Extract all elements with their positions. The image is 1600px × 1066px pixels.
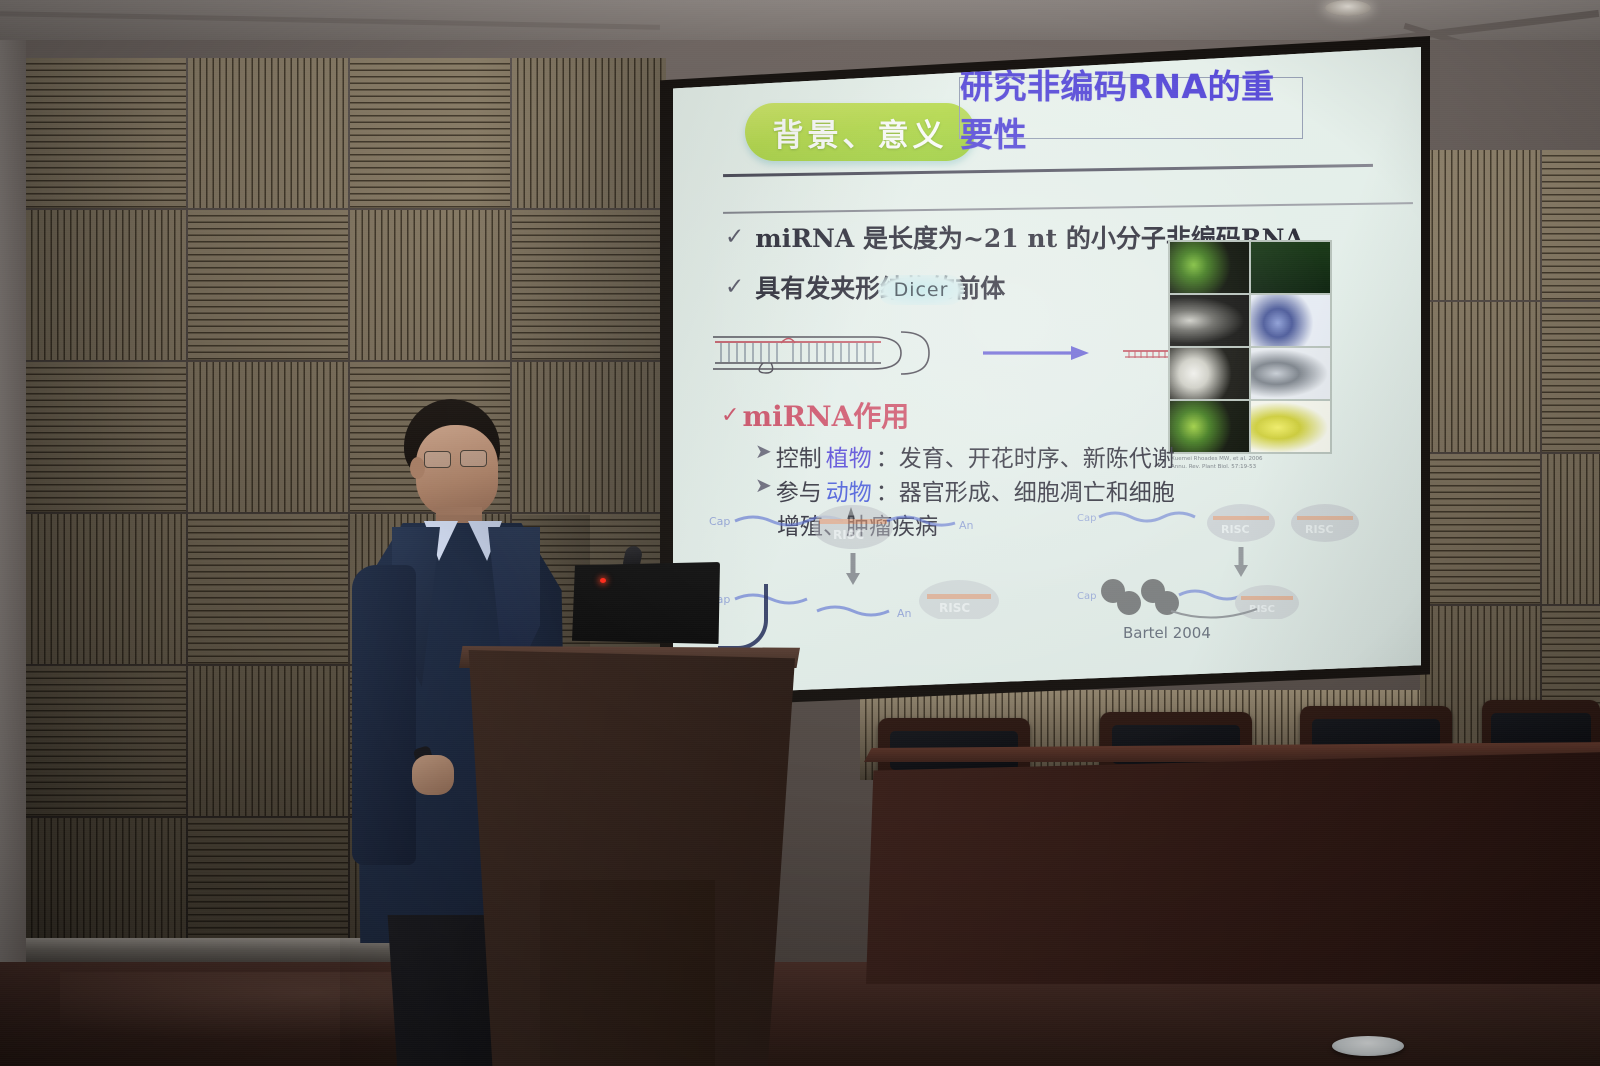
photo-cell-c [1170, 295, 1249, 346]
lecture-hall-photo: 背景、意义 研究非编码RNA的重要性 ✓ miRNA 是长度为~21 nt 的小… [0, 0, 1600, 1066]
svg-text:An: An [897, 607, 912, 619]
slide-section-pill: 背景、意义 [745, 103, 975, 161]
risc-pathway-diagram: Cap RISC An Cap An [701, 499, 1391, 619]
presenter-face [416, 425, 498, 517]
arrow-bullet-icon: ➤ [755, 439, 772, 464]
photo-citation-line-1: Xuemei Rhoades MW, et al. 2006 [1171, 455, 1321, 463]
dicer-label-text: Dicer [894, 279, 949, 301]
svg-text:RISC: RISC [1305, 523, 1334, 536]
slide-citation: Bartel 2004 [1123, 624, 1211, 642]
podium-column [540, 880, 715, 1066]
svg-text:Cap: Cap [1077, 591, 1096, 602]
slide-subitem-1-prefix: 控制 [776, 439, 822, 473]
ceiling-light-icon [1325, 0, 1371, 16]
photo-cell-f [1251, 348, 1330, 399]
svg-text:Cap: Cap [1077, 513, 1096, 524]
slide-section2-heading-text: miRNA作用 [742, 395, 909, 435]
slide-divider-bottom [723, 202, 1413, 214]
photo-cell-g [1170, 401, 1249, 452]
dicer-label-badge: Dicer [878, 275, 964, 305]
photo-cell-a [1170, 242, 1249, 293]
presenter-hand [412, 755, 454, 795]
slide-title-text: 研究非编码RNA的重要性 [960, 60, 1302, 156]
svg-text:RISC: RISC [833, 528, 864, 542]
svg-text:Cap: Cap [709, 515, 730, 528]
check-icon: ✓ [725, 275, 744, 298]
svg-text:An: An [959, 519, 974, 532]
slide-section2-heading: ✓ miRNA作用 [721, 395, 909, 435]
audience-desk [866, 752, 1600, 984]
check-icon: ✓ [721, 404, 739, 426]
saucer-cup [1332, 1036, 1404, 1056]
projection-screen[interactable]: 背景、意义 研究非编码RNA的重要性 ✓ miRNA 是长度为~21 nt 的小… [673, 47, 1421, 695]
plant-phenotype-photo-grid [1168, 240, 1332, 454]
svg-text:RISC: RISC [1221, 523, 1250, 536]
photo-citation-line-2: Annu. Rev. Plant Biol. 57:19-53 [1171, 463, 1321, 471]
slide-subitem-1-highlight: 植物 [826, 439, 872, 473]
photo-cell-d [1251, 295, 1330, 346]
laptop-power-led-icon [600, 578, 606, 583]
laptop[interactable] [572, 562, 720, 644]
glasses-icon [424, 451, 490, 468]
wall-left-column [0, 40, 26, 1000]
presenter-arm-left [352, 565, 416, 865]
photo-cell-b [1251, 242, 1330, 293]
photo-cell-h [1251, 401, 1330, 452]
slide-title-box: 研究非编码RNA的重要性 [959, 77, 1303, 139]
svg-text:RISC: RISC [939, 601, 970, 615]
slide-subitem-1-rest: ：发育、开花时序、新陈代谢 [876, 439, 1175, 473]
presenter-ear [410, 457, 425, 479]
presentation-slide: 背景、意义 研究非编码RNA的重要性 ✓ miRNA 是长度为~21 nt 的小… [673, 47, 1421, 695]
photo-cell-e [1170, 348, 1249, 399]
slide-section-label: 背景、意义 [773, 110, 948, 155]
arrow-bullet-icon: ➤ [755, 473, 772, 498]
photo-grid-citation: Xuemei Rhoades MW, et al. 2006 Annu. Rev… [1171, 455, 1321, 472]
check-icon: ✓ [725, 225, 744, 248]
slide-subitem-1: ➤ 控制 植物 ：发育、开花时序、新陈代谢 [755, 439, 1175, 473]
slide-divider-top [723, 164, 1373, 177]
process-arrow-icon [983, 346, 1089, 360]
